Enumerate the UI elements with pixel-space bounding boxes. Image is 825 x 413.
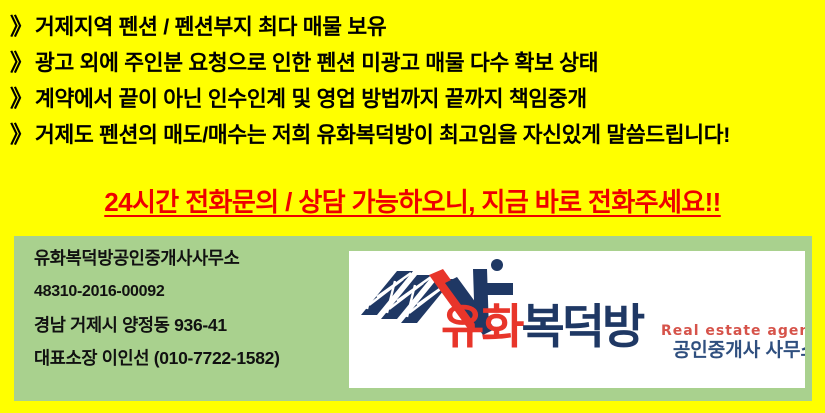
feature-bullet-list: 》 거제지역 펜션 / 펜션부지 최다 매물 보유 》 광고 외에 주인분 요청… [0,0,825,152]
bullet-text: 거제도 펜션의 매도/매수는 저희 유화복덕방이 최고임을 자신있게 말씀드립니… [35,117,730,153]
call-to-action-headline: 24시간 전화문의 / 상담 가능하오니, 지금 바로 전화주세요!! [0,182,825,219]
bullet-text: 광고 외에 주인분 요청으로 인한 펜션 미광고 매물 다수 확보 상태 [35,45,598,81]
agency-logo-box: 유화복덕방 Real estate agency 공인중개사 사무소 [349,251,805,388]
agency-wordmark: 유화복덕방 [441,303,642,350]
contact-details: 유화복덕방공인중개사사무소 48310-2016-00092 경남 거제시 양정… [14,236,344,401]
headline-text: 24시간 전화문의 / 상담 가능하오니, 지금 바로 전화주세요!! [104,182,721,219]
double-angle-bracket-icon: 》 [10,116,32,152]
bullet-text: 거제지역 펜션 / 펜션부지 최다 매물 보유 [35,9,386,45]
list-item: 》 거제지역 펜션 / 펜션부지 최다 매물 보유 [10,8,825,44]
representative-and-phone: 대표소장 이인선 (010-7722-1582) [34,350,344,368]
advertisement-banner: 》 거제지역 펜션 / 펜션부지 최다 매물 보유 》 광고 외에 주인분 요청… [0,0,825,413]
wordmark-red-part: 유화 [441,300,521,353]
list-item: 》 광고 외에 주인분 요청으로 인한 펜션 미광고 매물 다수 확보 상태 [10,44,825,80]
double-angle-bracket-icon: 》 [10,8,32,44]
double-angle-bracket-icon: 》 [10,80,32,116]
license-number: 48310-2016-00092 [34,284,344,300]
agency-tagline: Real estate agency 공인중개사 사무소 [661,324,805,362]
wordmark-navy-part: 복덕방 [521,300,642,353]
office-name: 유화복덕방공인중개사사무소 [34,250,344,268]
tagline-korean: 공인중개사 사무소 [661,340,805,362]
list-item: 》 거제도 펜션의 매도/매수는 저희 유화복덕방이 최고임을 자신있게 말씀드… [10,116,825,152]
double-angle-bracket-icon: 》 [10,44,32,80]
bullet-text: 계약에서 끝이 아닌 인수인계 및 영업 방법까지 끝까지 책임중개 [35,81,587,117]
list-item: 》 계약에서 끝이 아닌 인수인계 및 영업 방법까지 끝까지 책임중개 [10,80,825,116]
tagline-english: Real estate agency [661,324,805,339]
office-address: 경남 거제시 양정동 936-41 [34,317,344,335]
contact-card: 유화복덕방공인중개사사무소 48310-2016-00092 경남 거제시 양정… [14,236,812,401]
